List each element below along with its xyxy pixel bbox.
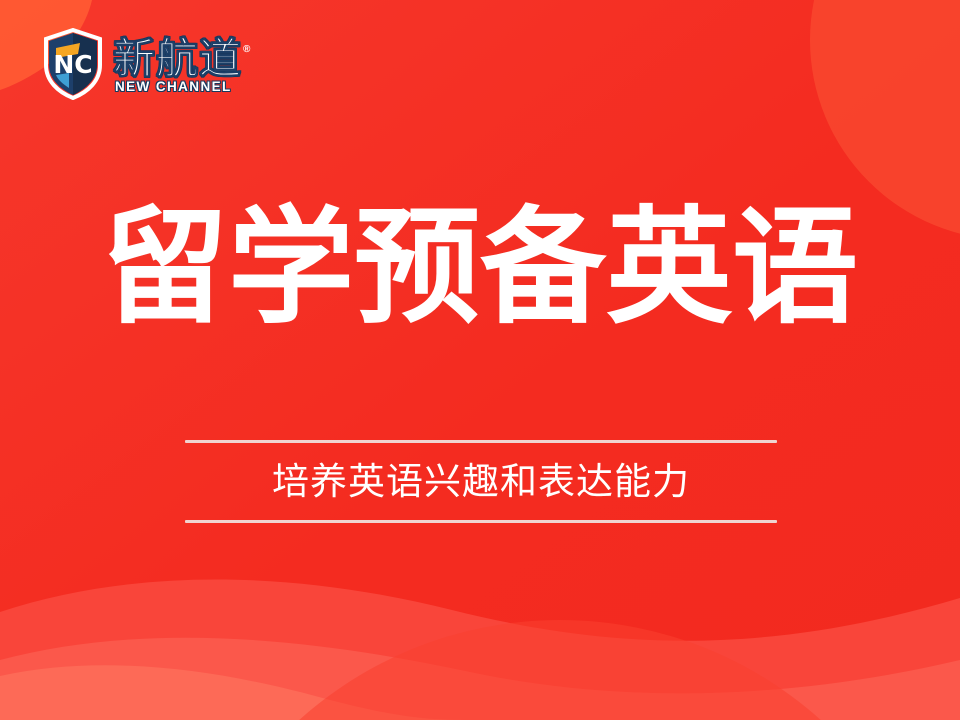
nc-shield-icon: NC [42, 28, 104, 100]
subtitle-rule-bottom [185, 520, 777, 523]
page-title: 留学预备英语 [0, 196, 960, 340]
svg-text:NC: NC [53, 50, 92, 79]
subtitle-rule-top [185, 440, 777, 443]
title-block: 留学预备英语 [0, 196, 960, 340]
registered-mark: ® [243, 45, 250, 55]
subtitle-block: 培养英语兴趣和表达能力 [185, 440, 777, 523]
page-subtitle: 培养英语兴趣和表达能力 [185, 443, 777, 520]
background-decoration [0, 0, 960, 720]
presentation-slide: NC 新航道 ® NEW CHANNEL 留学预备英语 培养英语兴趣和表达能力 [0, 0, 960, 720]
brand-name-cn: 新航道 [113, 37, 242, 81]
brand-wordmark: 新航道 ® NEW CHANNEL [113, 27, 250, 101]
brand-logo: NC 新航道 ® NEW CHANNEL [42, 27, 250, 101]
